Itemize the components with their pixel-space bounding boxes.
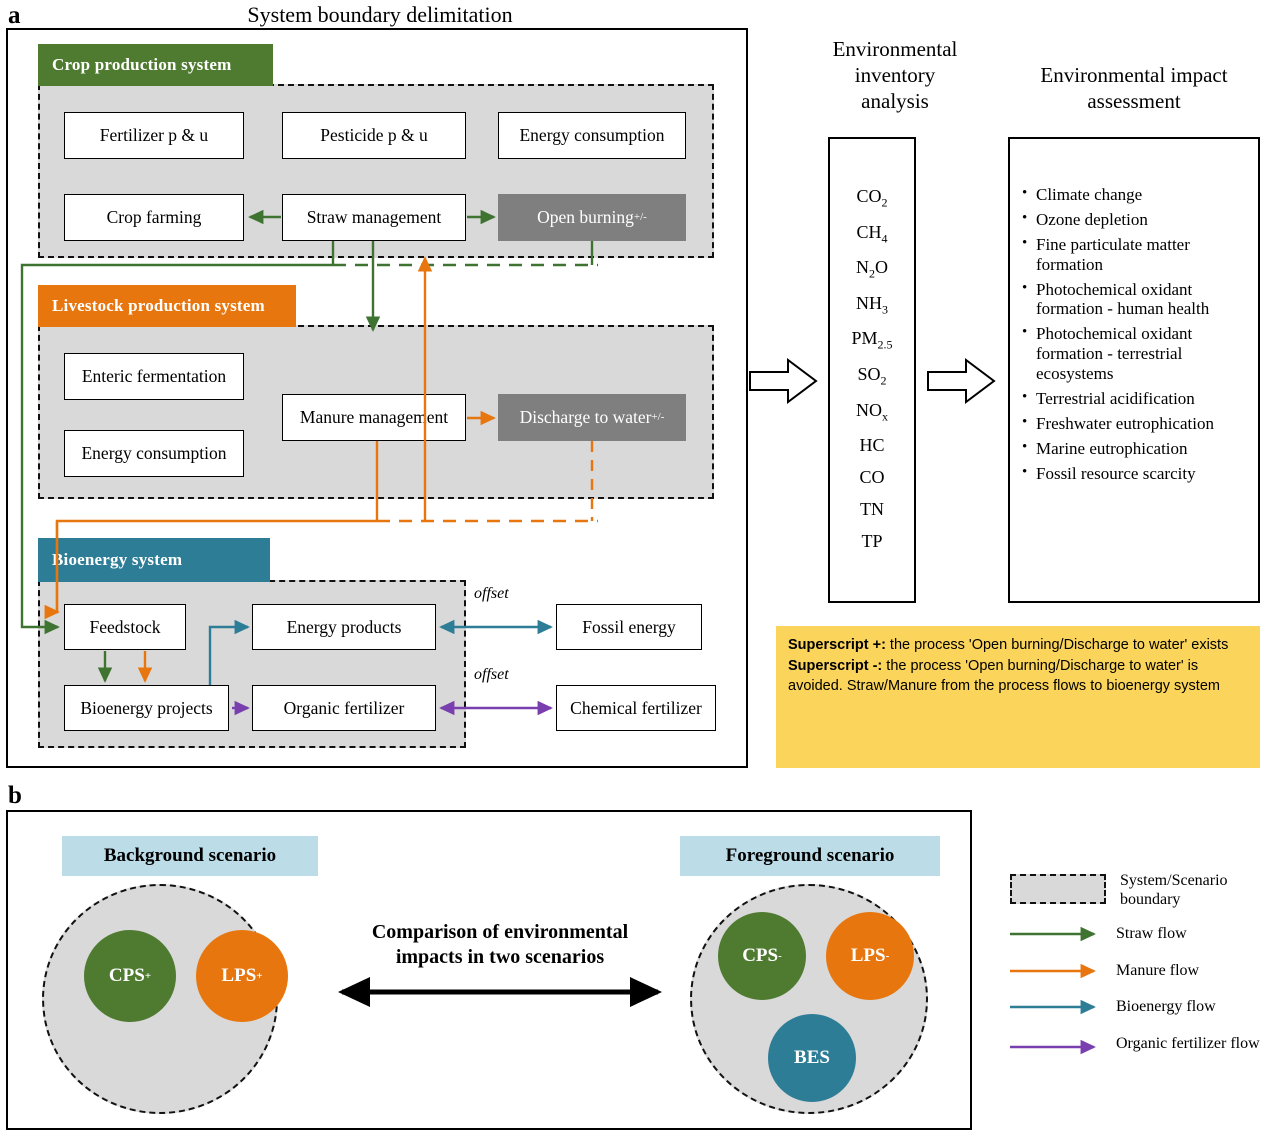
inventory-item: TN bbox=[830, 500, 914, 518]
inventory-item: CO2 bbox=[830, 187, 914, 209]
comparison-text-l1: Comparison of environmental bbox=[330, 920, 670, 945]
impact-list-item: Climate change bbox=[1036, 185, 1248, 205]
box-energy-products-label: Energy products bbox=[287, 617, 402, 637]
impact-title: Environmental impact assessment bbox=[1000, 62, 1268, 114]
box-pesticide-label: Pesticide p & u bbox=[320, 125, 427, 145]
circle-bes-foreground[interactable]: BES bbox=[768, 1014, 856, 1102]
legend: System/Scenario boundary Straw flow Manu… bbox=[1010, 872, 1260, 1054]
box-chemical-fertilizer-label: Chemical fertilizer bbox=[570, 698, 702, 718]
offset-label-energy: offset bbox=[474, 585, 509, 603]
box-energy-products[interactable]: Energy products bbox=[252, 604, 436, 650]
legend-arrow-manure-icon bbox=[1010, 964, 1102, 978]
panel-a-letter: a bbox=[8, 2, 21, 30]
circle-cps-foreground-label: CPS bbox=[742, 945, 778, 967]
panel-a-title: System boundary delimitation bbox=[150, 2, 610, 28]
legend-swatch-boundary-icon bbox=[1010, 874, 1106, 904]
circle-lps-background[interactable]: LPS+ bbox=[196, 930, 288, 1022]
foreground-scenario-header: Foreground scenario bbox=[680, 836, 940, 876]
comparison-text-l2: impacts in two scenarios bbox=[330, 945, 670, 970]
inventory-item: NH3 bbox=[830, 294, 914, 316]
inventory-title: Environmental inventory analysis bbox=[790, 36, 1000, 114]
note-line-1-bold: Superscript +: bbox=[788, 637, 886, 653]
impact-list-item: Marine eutrophication bbox=[1036, 439, 1248, 459]
box-discharge-to-water-label: Discharge to water bbox=[520, 407, 652, 427]
circle-lps-background-label: LPS bbox=[221, 965, 256, 987]
impact-list-item: Fine particulate matter formation bbox=[1036, 235, 1248, 275]
circle-lps-foreground-label: LPS bbox=[851, 945, 886, 967]
block-arrow-to-inventory-icon bbox=[748, 356, 820, 410]
livestock-system-label: Livestock production system bbox=[52, 296, 265, 316]
box-open-burning-label: Open burning bbox=[537, 207, 634, 227]
box-enteric-fermentation-label: Enteric fermentation bbox=[82, 366, 226, 386]
box-pesticide[interactable]: Pesticide p & u bbox=[282, 112, 466, 159]
discharge-superscript: +/- bbox=[651, 411, 664, 424]
note-line-2: Superscript -: the process 'Open burning… bbox=[788, 656, 1248, 697]
inventory-list: CO2 CH4 N2O NH3 PM2.5 SO2 NOx HC CO TN T… bbox=[830, 139, 914, 550]
legend-arrow-bioenergy-icon bbox=[1010, 1000, 1102, 1014]
box-crop-farming-label: Crop farming bbox=[107, 207, 202, 227]
crop-system-label: Crop production system bbox=[52, 55, 231, 75]
box-feedstock[interactable]: Feedstock bbox=[64, 604, 186, 650]
box-fertilizer[interactable]: Fertilizer p & u bbox=[64, 112, 244, 159]
box-crop-energy-consumption-label: Energy consumption bbox=[519, 125, 664, 145]
box-discharge-to-water[interactable]: Discharge to water+/- bbox=[498, 394, 686, 441]
legend-item-system-boundary: System/Scenario boundary bbox=[1010, 872, 1260, 909]
inventory-item: CH4 bbox=[830, 223, 914, 245]
box-livestock-energy-consumption-label: Energy consumption bbox=[81, 443, 226, 463]
legend-item-organic-fertilizer-flow: Organic fertilizer flow bbox=[1010, 1035, 1260, 1054]
legend-label-system-boundary: System/Scenario boundary bbox=[1120, 872, 1260, 909]
box-bioenergy-projects[interactable]: Bioenergy projects bbox=[64, 685, 229, 731]
circle-lps-foreground-sup: - bbox=[886, 950, 890, 962]
foreground-scenario-label: Foreground scenario bbox=[726, 845, 895, 867]
box-fertilizer-label: Fertilizer p & u bbox=[100, 125, 208, 145]
box-feedstock-label: Feedstock bbox=[90, 617, 161, 637]
background-scenario-label: Background scenario bbox=[104, 845, 276, 867]
inventory-item: CO bbox=[830, 468, 914, 486]
impact-list-item: Fossil resource scarcity bbox=[1036, 464, 1248, 484]
note-line-1-rest: the process 'Open burning/Discharge to w… bbox=[886, 637, 1228, 653]
inventory-title-l1: Environmental bbox=[790, 36, 1000, 62]
circle-cps-background[interactable]: CPS+ bbox=[84, 930, 176, 1022]
box-organic-fertilizer-label: Organic fertilizer bbox=[284, 698, 405, 718]
comparison-text: Comparison of environmental impacts in t… bbox=[330, 920, 670, 970]
inventory-item: N2O bbox=[830, 258, 914, 280]
impact-listbox: Climate change Ozone depletion Fine part… bbox=[1008, 137, 1260, 603]
impact-title-l1: Environmental impact bbox=[1000, 62, 1268, 88]
box-manure-management[interactable]: Manure management bbox=[282, 394, 466, 441]
comparison-double-arrow-icon bbox=[330, 978, 670, 1006]
crop-system-header: Crop production system bbox=[38, 44, 273, 86]
note-line-2-bold: Superscript -: bbox=[788, 658, 882, 674]
circle-cps-foreground-sup: - bbox=[778, 950, 782, 962]
impact-list: Climate change Ozone depletion Fine part… bbox=[1010, 139, 1258, 483]
box-chemical-fertilizer[interactable]: Chemical fertilizer bbox=[556, 685, 716, 731]
bioenergy-system-label: Bioenergy system bbox=[52, 550, 182, 570]
circle-cps-foreground[interactable]: CPS- bbox=[718, 912, 806, 1000]
box-organic-fertilizer[interactable]: Organic fertilizer bbox=[252, 685, 436, 731]
open-burning-superscript: +/- bbox=[634, 211, 647, 224]
box-bioenergy-projects-label: Bioenergy projects bbox=[80, 698, 212, 718]
impact-title-l2: assessment bbox=[1000, 88, 1268, 114]
inventory-item: NOx bbox=[830, 401, 914, 423]
impact-list-item: Freshwater eutrophication bbox=[1036, 414, 1248, 434]
inventory-item: SO2 bbox=[830, 365, 914, 387]
legend-arrow-straw-icon bbox=[1010, 927, 1102, 941]
superscript-note: Superscript +: the process 'Open burning… bbox=[776, 626, 1260, 768]
box-straw-management[interactable]: Straw management bbox=[282, 194, 466, 241]
bioenergy-system-header: Bioenergy system bbox=[38, 538, 270, 582]
impact-list-item: Photochemical oxidant formation - terres… bbox=[1036, 324, 1248, 384]
circle-lps-foreground[interactable]: LPS- bbox=[826, 912, 914, 1000]
legend-item-bioenergy-flow: Bioenergy flow bbox=[1010, 998, 1260, 1017]
box-enteric-fermentation[interactable]: Enteric fermentation bbox=[64, 353, 244, 400]
inventory-item: TP bbox=[830, 532, 914, 550]
circle-cps-background-label: CPS bbox=[109, 965, 145, 987]
background-scenario-header: Background scenario bbox=[62, 836, 318, 876]
panel-b-letter: b bbox=[8, 782, 22, 810]
box-straw-management-label: Straw management bbox=[307, 207, 442, 227]
inventory-title-l3: analysis bbox=[790, 88, 1000, 114]
circle-cps-background-sup: + bbox=[145, 970, 151, 982]
box-fossil-energy[interactable]: Fossil energy bbox=[556, 604, 702, 650]
inventory-item: PM2.5 bbox=[830, 329, 914, 351]
legend-arrow-organic-fertilizer-icon bbox=[1010, 1040, 1102, 1054]
circle-bes-foreground-label: BES bbox=[794, 1047, 830, 1069]
legend-label-organic-fertilizer-flow: Organic fertilizer flow bbox=[1116, 1035, 1260, 1054]
legend-label-manure-flow: Manure flow bbox=[1116, 962, 1199, 981]
impact-list-item: Terrestrial acidification bbox=[1036, 389, 1248, 409]
box-open-burning[interactable]: Open burning+/- bbox=[498, 194, 686, 241]
inventory-listbox: CO2 CH4 N2O NH3 PM2.5 SO2 NOx HC CO TN T… bbox=[828, 137, 916, 603]
box-manure-management-label: Manure management bbox=[300, 407, 448, 427]
block-arrow-to-impact-icon bbox=[926, 356, 998, 410]
circle-lps-background-sup: + bbox=[256, 970, 262, 982]
note-line-1: Superscript +: the process 'Open burning… bbox=[788, 635, 1248, 656]
legend-label-straw-flow: Straw flow bbox=[1116, 925, 1187, 944]
legend-item-straw-flow: Straw flow bbox=[1010, 925, 1260, 944]
box-crop-energy-consumption[interactable]: Energy consumption bbox=[498, 112, 686, 159]
inventory-item: HC bbox=[830, 436, 914, 454]
offset-label-fertilizer: offset bbox=[474, 666, 509, 684]
impact-list-item: Photochemical oxidant formation - human … bbox=[1036, 280, 1248, 320]
legend-label-bioenergy-flow: Bioenergy flow bbox=[1116, 998, 1216, 1017]
box-fossil-energy-label: Fossil energy bbox=[582, 617, 676, 637]
legend-item-manure-flow: Manure flow bbox=[1010, 962, 1260, 981]
box-livestock-energy-consumption[interactable]: Energy consumption bbox=[64, 430, 244, 477]
livestock-system-header: Livestock production system bbox=[38, 285, 296, 327]
box-crop-farming[interactable]: Crop farming bbox=[64, 194, 244, 241]
inventory-title-l2: inventory bbox=[790, 62, 1000, 88]
impact-list-item: Ozone depletion bbox=[1036, 210, 1248, 230]
